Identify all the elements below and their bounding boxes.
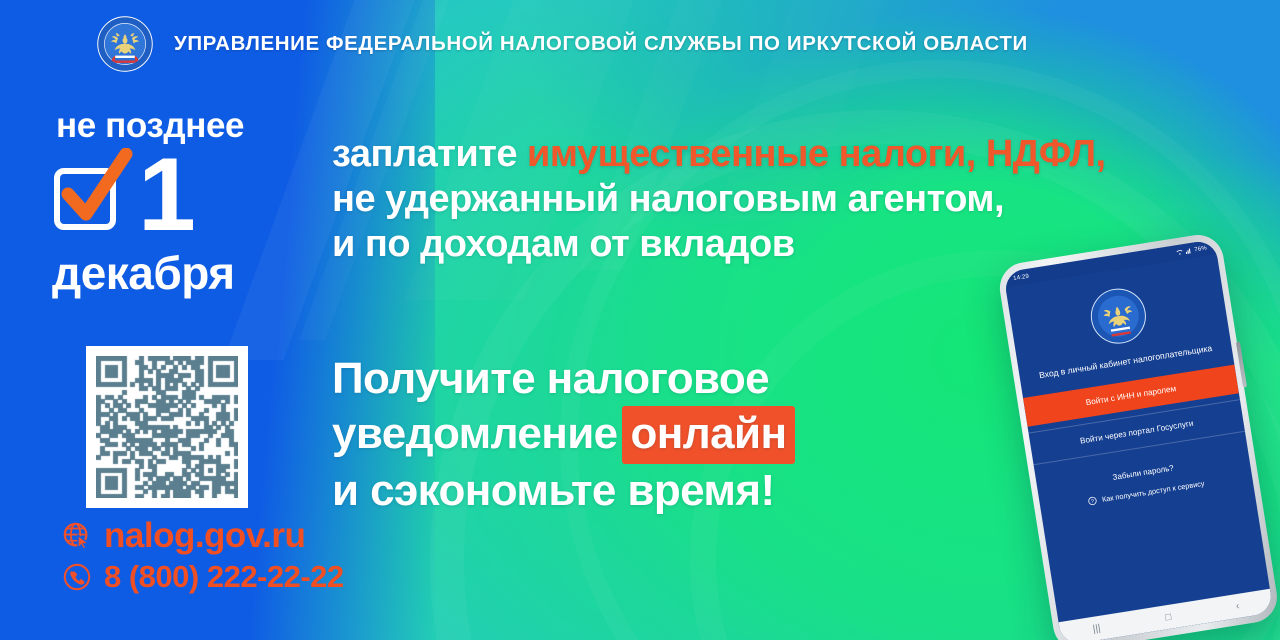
headline-secondary-line-1: Получите налоговое: [332, 352, 795, 406]
deadline-date-block: не позднее 1 декабря: [52, 108, 320, 296]
qr-code[interactable]: [86, 346, 248, 508]
header-bar: УПРАВЛЕНИЕ ФЕДЕРАЛЬНОЙ НАЛОГОВОЙ СЛУЖБЫ …: [0, 0, 1280, 88]
headline-primary-line-2: не удержанный налоговым агентом,: [332, 177, 1106, 222]
phone-status-icons: 76%: [1176, 244, 1207, 256]
orange-checkmark-icon: [54, 162, 122, 230]
headline-primary: заплатите имущественные налоги, НДФЛ, не…: [332, 132, 1106, 266]
deadline-day: 1: [138, 153, 194, 238]
page-title: УПРАВЛЕНИЕ ФЕДЕРАЛЬНОЙ НАЛОГОВОЙ СЛУЖБЫ …: [174, 32, 1028, 56]
headline-primary-line1-white: заплатите: [332, 133, 527, 175]
headline-secondary-line-3: и сэкономьте время!: [332, 464, 795, 518]
phone-help-link[interactable]: ? Как получить доступ к сервису: [1040, 472, 1253, 514]
fns-emblem-icon: [1084, 282, 1153, 351]
promo-banner: УПРАВЛЕНИЕ ФЕДЕРАЛЬНОЙ НАЛОГОВОЙ СЛУЖБЫ …: [0, 0, 1280, 640]
headline-primary-line-3: и по доходам от вкладов: [332, 222, 1106, 267]
headline-secondary-line2-text: уведомление: [332, 409, 618, 458]
headline-primary-line1-orange: имущественные налоги, НДФЛ,: [527, 133, 1106, 175]
phone-status-time: 14:29: [1013, 273, 1030, 281]
svg-text:?: ?: [1091, 499, 1095, 505]
globe-cursor-icon: [62, 521, 92, 551]
headline-secondary: Получите налоговое уведомлениеонлайн и с…: [332, 352, 795, 518]
deadline-month: декабря: [52, 250, 320, 296]
signal-icon: [1185, 247, 1193, 255]
phone-battery-level: 76%: [1194, 245, 1207, 253]
qr-code-image: [96, 356, 238, 498]
website-row[interactable]: nalog.gov.ru: [62, 518, 344, 553]
contact-info: nalog.gov.ru 8 (800) 222-22-22: [62, 518, 344, 600]
home-icon[interactable]: □: [1164, 611, 1172, 623]
headline-secondary-line-2: уведомлениеонлайн: [332, 406, 795, 465]
back-icon[interactable]: ‹: [1235, 600, 1240, 611]
recents-icon[interactable]: |||: [1092, 622, 1101, 634]
website-text: nalog.gov.ru: [104, 518, 305, 553]
online-highlight-badge: онлайн: [622, 406, 796, 465]
phone-row[interactable]: 8 (800) 222-22-22: [62, 561, 344, 592]
wifi-icon: [1176, 248, 1184, 256]
phone-text: 8 (800) 222-22-22: [104, 561, 344, 592]
headline-primary-line-1: заплатите имущественные налоги, НДФЛ,: [332, 132, 1106, 177]
phone-circle-icon: [62, 562, 92, 592]
phone-help-text: Как получить доступ к сервису: [1101, 479, 1205, 504]
fns-emblem-icon: [96, 15, 154, 73]
question-circle-icon: ?: [1088, 496, 1098, 506]
